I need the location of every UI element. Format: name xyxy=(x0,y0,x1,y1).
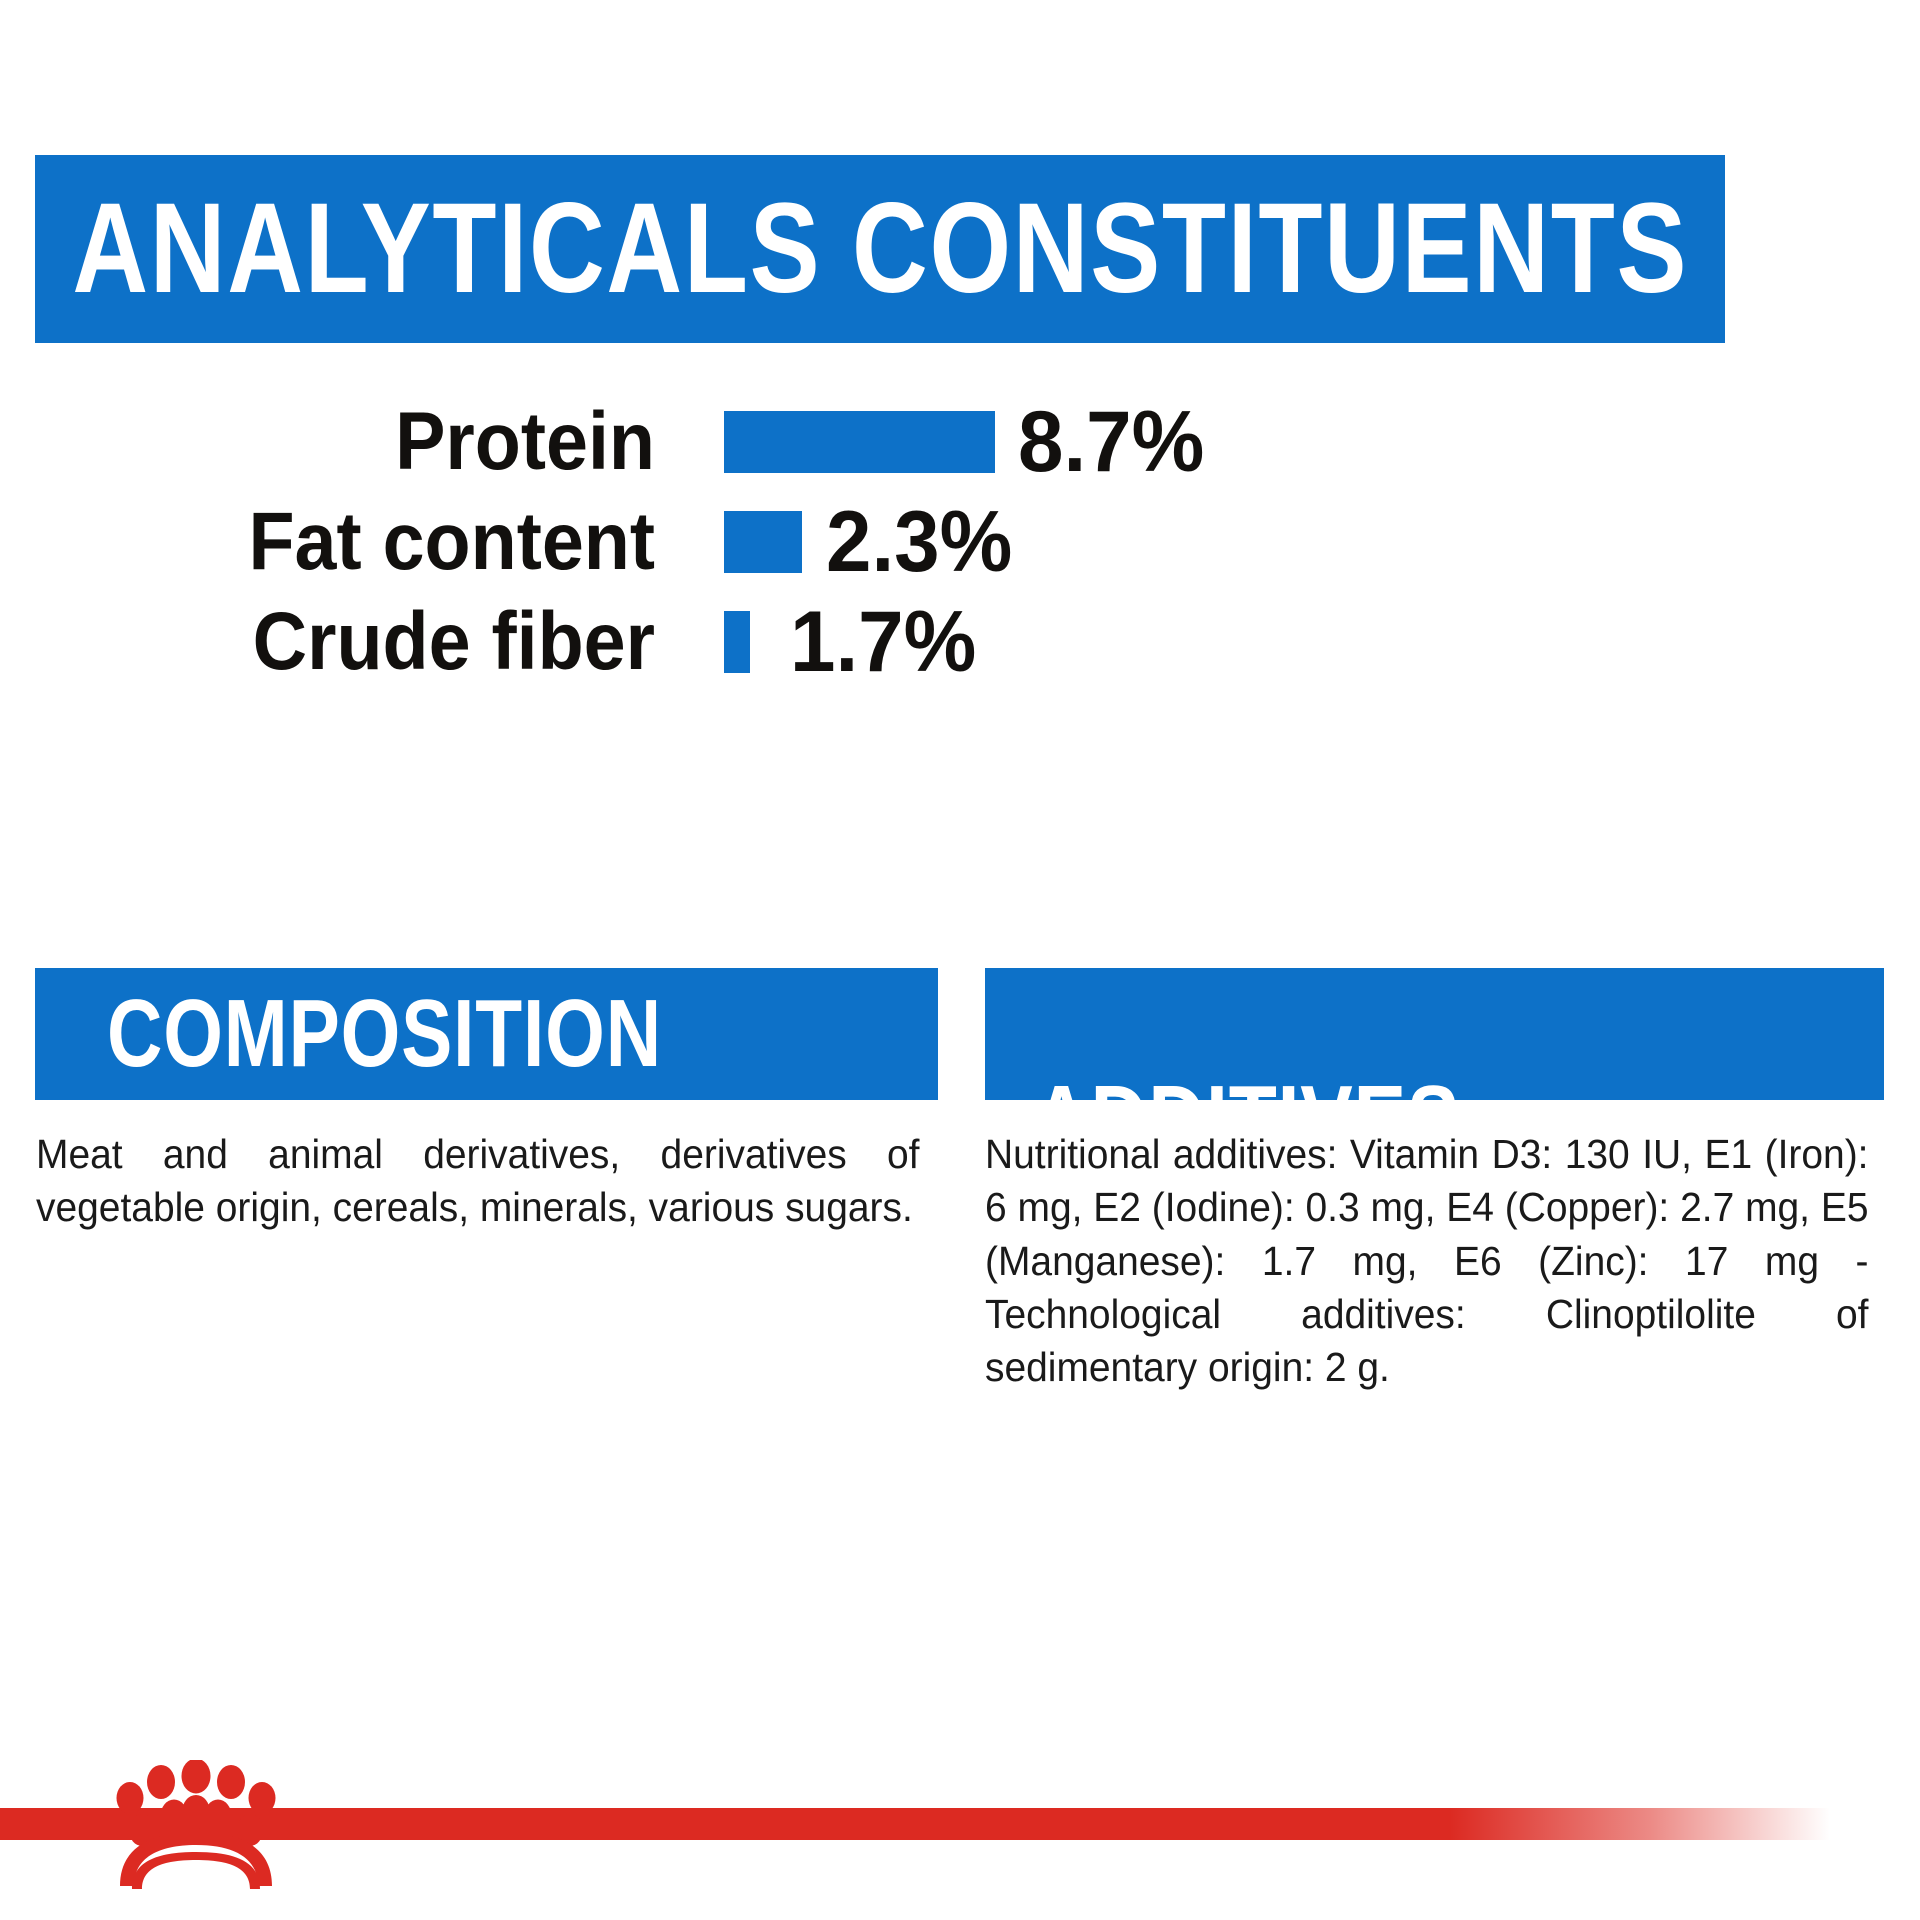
footer xyxy=(0,1760,1920,1920)
nutrient-row: Protein 8.7% xyxy=(0,392,1920,492)
nutrient-value-protein: 8.7% xyxy=(1018,392,1204,492)
nutrient-bar-protein xyxy=(724,411,995,473)
analyticals-title: ANALYTICALS CONSTITUENTS xyxy=(72,185,1688,313)
additives-title: ADDITIVES xyxy=(1033,1072,1460,1100)
additives-banner: ADDITIVES (per kg) xyxy=(985,968,1884,1100)
nutrient-label-fat-content: Fat content xyxy=(52,501,655,583)
royal-canin-crown-logo-icon xyxy=(110,1760,282,1890)
nutrient-label-crude-fiber: Crude fiber xyxy=(52,601,655,683)
nutrition-label-page: ANALYTICALS CONSTITUENTS Protein 8.7% Fa… xyxy=(0,0,1920,1920)
nutrient-bar-cell-crude-fiber xyxy=(724,592,750,692)
composition-banner: COMPOSITION xyxy=(35,968,938,1100)
nutrient-value-crude-fiber: 1.7% xyxy=(790,592,976,692)
analyticals-banner: ANALYTICALS CONSTITUENTS xyxy=(35,155,1725,343)
footer-red-bar xyxy=(0,1808,1920,1840)
nutrient-row: Crude fiber 1.7% xyxy=(0,592,1920,692)
analyticals-chart: Protein 8.7% Fat content 2.3% Crude fibe… xyxy=(0,392,1920,692)
nutrient-bar-fat-content xyxy=(724,511,802,573)
nutrient-value-fat-content: 2.3% xyxy=(826,492,1012,592)
additives-title-group: ADDITIVES (per kg) xyxy=(1033,1072,1647,1100)
nutrient-bar-cell-protein xyxy=(724,392,995,492)
composition-body-text: Meat and animal derivatives, derivatives… xyxy=(36,1128,920,1235)
nutrient-label-protein: Protein xyxy=(52,401,655,483)
nutrient-row: Fat content 2.3% xyxy=(0,492,1920,592)
additives-body-text: Nutritional additives: Vitamin D3: 130 I… xyxy=(985,1128,1869,1394)
nutrient-bar-crude-fiber xyxy=(724,611,750,673)
composition-title: COMPOSITION xyxy=(107,986,662,1082)
nutrient-bar-cell-fat-content xyxy=(724,492,802,592)
